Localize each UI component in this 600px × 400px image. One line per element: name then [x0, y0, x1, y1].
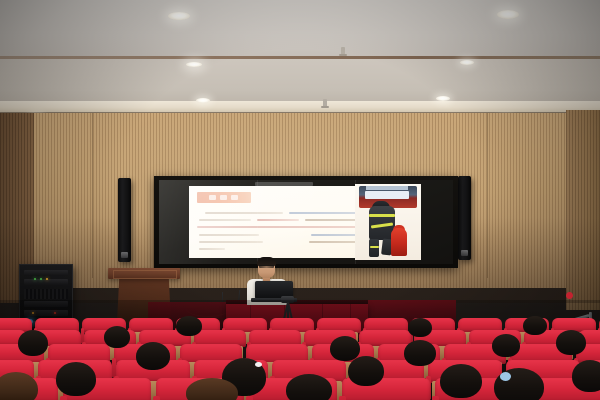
seat-armrest [153, 396, 159, 400]
audience-member-head [523, 316, 547, 335]
audience-member-head [56, 362, 96, 396]
seat-armrest [432, 396, 438, 400]
audience-member-head [408, 318, 432, 337]
hair-tie-blue [500, 372, 511, 381]
seat-armrest [339, 396, 345, 400]
hair-tie-red [566, 292, 573, 299]
auditorium-photo: Fire-safety training lecture in a school… [0, 0, 600, 400]
audience-member-head [136, 342, 170, 370]
audience-member-head [556, 330, 586, 355]
audience-member-head [18, 330, 48, 356]
audience-member-head [104, 326, 130, 348]
audience-member-head [176, 316, 202, 336]
audience-member-head [404, 340, 436, 366]
audience-member-head [572, 360, 600, 392]
seat-armrest [60, 396, 66, 400]
audience-member-head [440, 364, 482, 398]
audience-member-head [286, 374, 332, 400]
audience-member-head [348, 356, 384, 386]
audience-member-head [492, 334, 520, 357]
hair-clip-white [255, 362, 262, 367]
seat-armrest [246, 396, 252, 400]
audience-member-head [330, 336, 360, 361]
audience-member-head [186, 378, 238, 400]
